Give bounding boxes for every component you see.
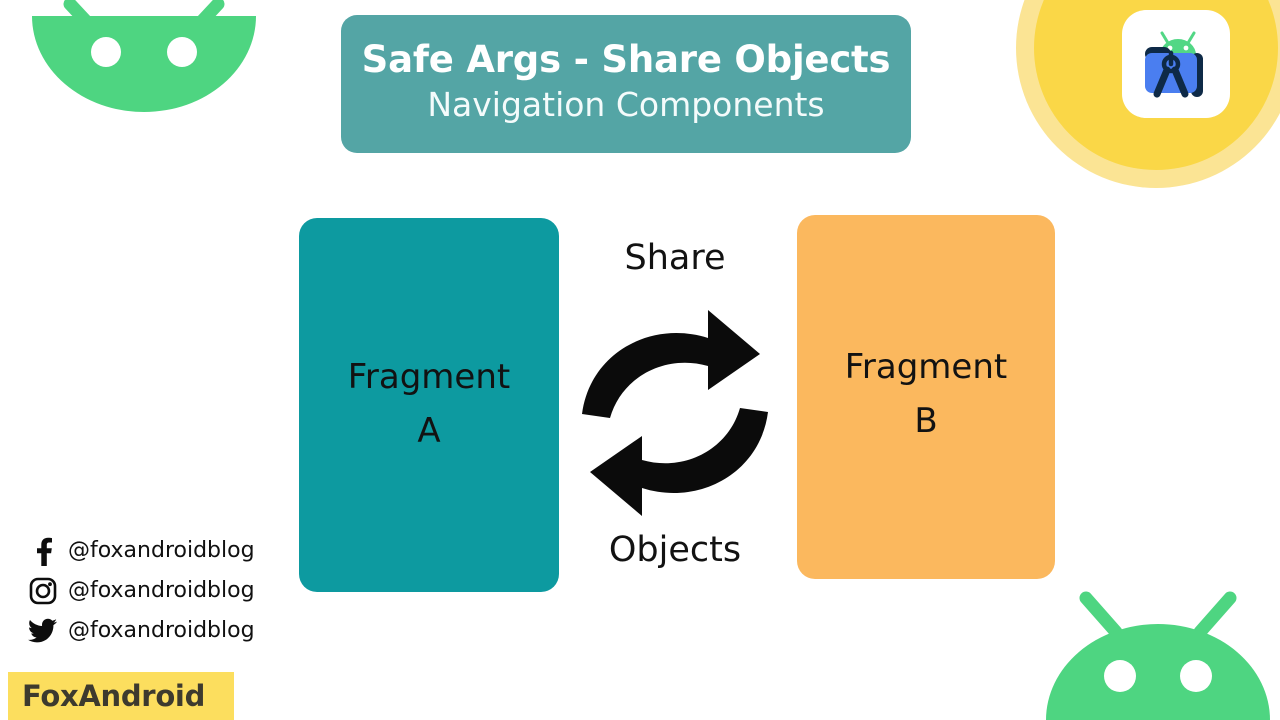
instagram-icon [22,577,64,605]
fragment-b-label: Fragment B [845,215,1007,449]
fragment-a-line2: A [348,404,510,458]
facebook-handle: @foxandroidblog [68,538,255,563]
slide-canvas: Safe Args - Share Objects Navigation Com… [0,0,1280,720]
fragment-a-line1: Fragment [348,357,510,397]
social-row-instagram[interactable]: @foxandroidblog [22,571,255,610]
fragment-b-card[interactable]: Fragment B [797,215,1055,579]
arrow-bottom-label: Objects [560,530,790,570]
exchange-arrows-icon [560,294,790,534]
fragment-a-card[interactable]: Fragment A [299,218,559,592]
top-right-decoration [1016,0,1280,224]
share-objects-arrows-group: Share Objects [560,232,790,592]
page-title: Safe Args - Share Objects [362,40,891,81]
social-row-twitter[interactable]: @foxandroidblog [22,611,255,650]
social-row-facebook[interactable]: @foxandroidblog [22,531,255,570]
android-head-flipped-icon [26,0,262,144]
social-links-list: @foxandroidblog @foxandroidblog @foxandr… [22,531,255,651]
instagram-handle: @foxandroidblog [68,578,255,603]
fragment-a-label: Fragment A [348,218,510,459]
android-head-icon [1042,588,1274,720]
android-studio-icon [1122,10,1230,118]
brand-badge: FoxAndroid [8,672,234,720]
fragment-b-line2: B [845,394,1007,448]
fragment-b-line1: Fragment [845,347,1007,387]
arrow-top-label: Share [560,238,790,278]
twitter-handle: @foxandroidblog [68,618,255,643]
facebook-icon [22,536,64,566]
title-banner: Safe Args - Share Objects Navigation Com… [341,15,911,153]
brand-name: FoxAndroid [22,679,205,713]
twitter-icon [22,618,64,644]
page-subtitle: Navigation Components [427,86,824,124]
